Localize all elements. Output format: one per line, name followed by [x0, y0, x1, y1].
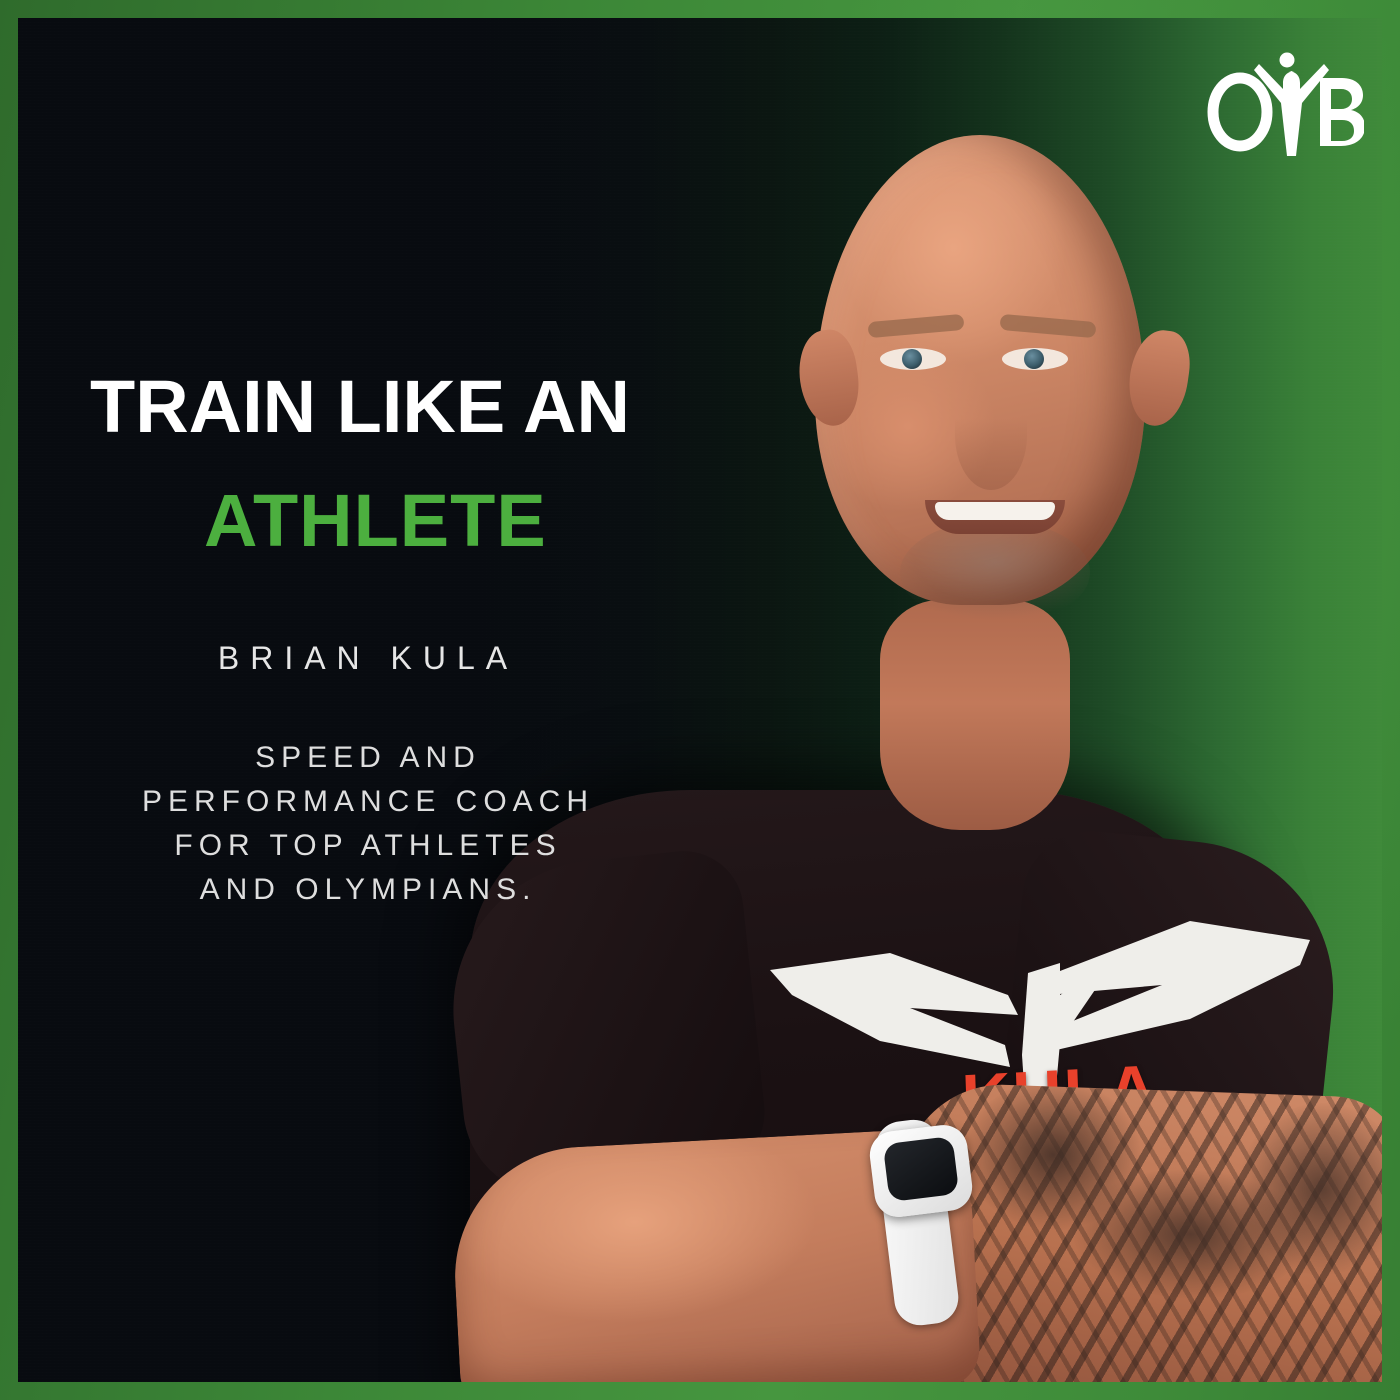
nose — [955, 380, 1027, 490]
neck — [880, 600, 1070, 830]
eye-right — [1002, 348, 1068, 370]
host-name: BRIAN KULA — [18, 640, 718, 677]
description-line: FOR TOP ATHLETES — [18, 824, 718, 868]
podcast-cover-art: KULA PERFORMANCE TRAIN LIKE AN ATHLETE B… — [0, 0, 1400, 1400]
host-description: SPEED AND PERFORMANCE COACH FOR TOP ATHL… — [18, 736, 718, 912]
description-line: PERFORMANCE COACH — [18, 780, 718, 824]
smartwatch-screen — [883, 1136, 960, 1202]
inner-panel: KULA PERFORMANCE TRAIN LIKE AN ATHLETE B… — [18, 18, 1382, 1382]
ob-athlete-logo-icon — [1204, 44, 1364, 156]
page-title-line1: TRAIN LIKE AN — [90, 370, 630, 444]
coach-portrait: KULA PERFORMANCE — [18, 18, 1382, 1382]
description-line: SPEED AND — [18, 736, 718, 780]
eye-left — [880, 348, 946, 370]
description-line: AND OLYMPIANS. — [18, 868, 718, 912]
goatee — [900, 520, 1090, 625]
page-title-line2: ATHLETE — [204, 484, 547, 558]
mouth — [925, 500, 1065, 534]
